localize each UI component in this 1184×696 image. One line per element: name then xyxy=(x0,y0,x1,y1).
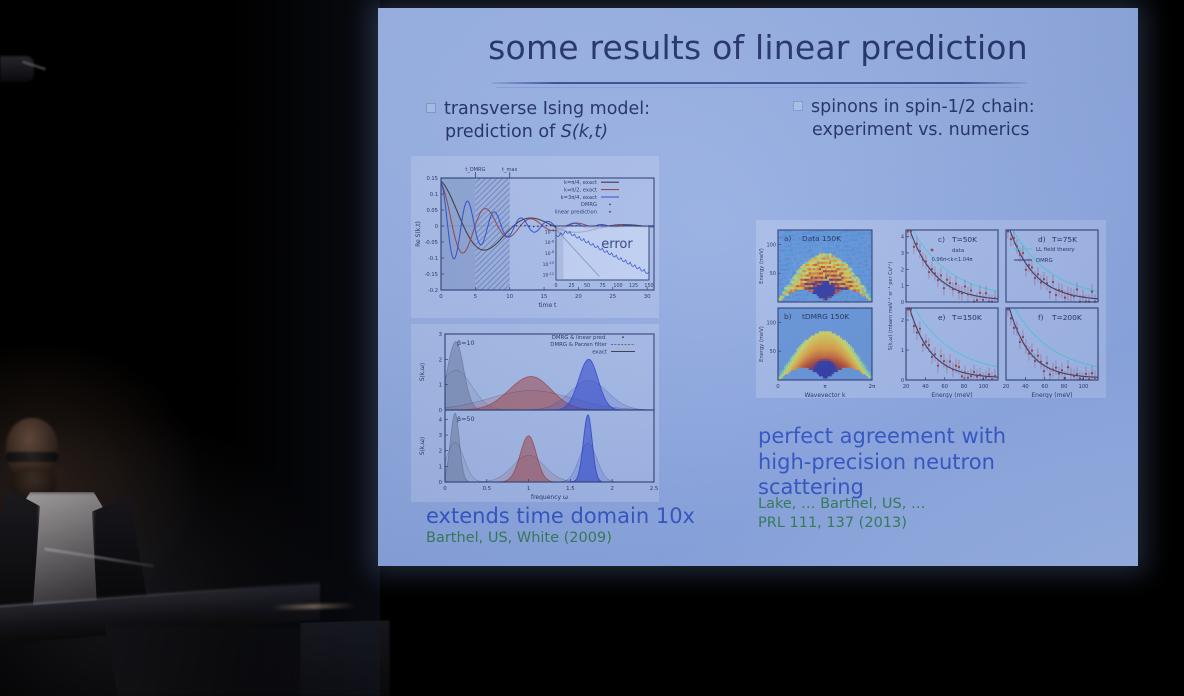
x-tick-label: π xyxy=(823,384,827,390)
cut-panel-0: c)T=50K01234 xyxy=(901,230,998,306)
annotation-tmax: t_max xyxy=(502,167,517,173)
data-point xyxy=(967,377,969,379)
data-point xyxy=(925,340,927,342)
data-point xyxy=(988,373,990,375)
data-point xyxy=(1046,282,1048,284)
data-point xyxy=(970,375,972,377)
figure-spectral-functions: 0123S(k,ω)β=1001234S(k,ω)β=5000.511.522.… xyxy=(411,324,659,502)
data-point xyxy=(1091,291,1093,293)
data-point xyxy=(964,285,966,287)
inset-x-tick-label: 50 xyxy=(584,283,590,289)
y-tick-label: 100 xyxy=(766,320,776,326)
y-tick-label: 2 xyxy=(439,357,442,363)
x-axis-label: Wavevector k xyxy=(805,392,846,398)
data-point xyxy=(925,260,927,262)
legend-dot-data xyxy=(931,249,934,252)
data-point xyxy=(943,287,945,289)
data-point xyxy=(1067,293,1069,295)
title-divider-shadow xyxy=(496,87,1021,88)
inset-y-tick-label: 10-4 xyxy=(545,229,554,236)
bullet-square-icon xyxy=(426,103,436,113)
figure-time-evolution: t_DMRGt_max0510152025300.150.10.050-0.05… xyxy=(411,156,659,318)
inset-x-tick-label: 100 xyxy=(613,283,622,289)
data-point xyxy=(1052,369,1054,371)
y-tick-label: 1 xyxy=(901,348,904,354)
caption-right-reference: Lake, … Barthel, US, … PRL 111, 137 (201… xyxy=(758,495,925,532)
data-point xyxy=(1010,317,1012,319)
data-point xyxy=(931,356,933,358)
x-tick-label: 25 xyxy=(609,294,616,300)
data-point xyxy=(1049,373,1051,375)
shaded-region-tdmrg xyxy=(441,178,475,290)
panel-label-1: T=75K xyxy=(1051,235,1077,244)
caption-right-highlight: perfect agreement with high-precision ne… xyxy=(758,424,1098,501)
caption-left-highlight: extends time domain 10x xyxy=(426,504,695,530)
data-point xyxy=(913,246,915,248)
slide-title: some results of linear prediction xyxy=(378,28,1138,67)
data-point xyxy=(1073,375,1075,377)
data-point xyxy=(985,376,987,378)
data-point xyxy=(916,243,918,245)
inset-y-tick-label: 10-12 xyxy=(543,272,554,279)
data-point xyxy=(931,268,933,270)
x-tick-label: 80 xyxy=(961,384,968,390)
data-point xyxy=(1031,266,1033,268)
y-axis-label: Re S(k,t) xyxy=(415,221,422,247)
data-point xyxy=(961,375,963,377)
data-marker xyxy=(524,225,526,227)
y-tick-label: 100 xyxy=(766,242,776,248)
chart-neutron-scattering: a)Data 150K50100Energy (meV)b)tDMRG 150K… xyxy=(756,220,1106,398)
data-point xyxy=(910,230,912,232)
cut-panel-1: d)T=75K xyxy=(1006,230,1098,303)
legend-dot-3 xyxy=(609,204,611,206)
y-axis-label: Energy (meV) xyxy=(759,248,765,284)
caption-right-highlight-line2: high-precision neutron scattering xyxy=(758,450,1098,501)
data-point xyxy=(1073,295,1075,297)
y-tick-label: 0.15 xyxy=(426,176,438,182)
figure-neutron-scattering: a)Data 150K50100Energy (meV)b)tDMRG 150K… xyxy=(756,220,1106,398)
data-point xyxy=(1028,352,1030,354)
legend-label-2: k=3π/4, exact xyxy=(561,195,597,201)
y-tick-label: 0 xyxy=(439,408,443,414)
bullet-square-icon xyxy=(793,101,803,111)
legend-label-0: k=π/4, exact xyxy=(564,180,597,186)
inset-y-tick-label: 10-6 xyxy=(545,239,554,246)
data-marker xyxy=(550,225,552,227)
panel-tag-0: a) xyxy=(784,234,792,243)
data-point xyxy=(1058,289,1060,291)
data-marker xyxy=(529,225,531,227)
y-tick-label: 0.05 xyxy=(426,208,438,214)
data-point xyxy=(1019,253,1021,255)
panel-tag-1: b) xyxy=(784,312,792,321)
y-tick-label: -0.2 xyxy=(428,288,438,294)
legend-dot-0 xyxy=(622,336,624,338)
legend-label-2: exact xyxy=(592,349,607,355)
data-point xyxy=(985,292,987,294)
data-point xyxy=(1061,290,1063,292)
data-point xyxy=(1010,238,1012,240)
y-tick-label: 2 xyxy=(439,449,442,455)
x-tick-label: 40 xyxy=(922,384,929,390)
data-point xyxy=(910,308,912,310)
data-point xyxy=(1016,245,1018,247)
data-point xyxy=(1037,355,1039,357)
bullet-right-line1: spinons in spin-1/2 chain: xyxy=(811,97,1035,117)
data-point xyxy=(1007,230,1009,232)
chart-spectral-functions: 0123S(k,ω)β=1001234S(k,ω)β=5000.511.522.… xyxy=(411,324,659,502)
data-point xyxy=(1085,373,1087,375)
data-point xyxy=(1079,377,1081,379)
data-point xyxy=(1043,370,1045,372)
panel-label-2: T=150K xyxy=(951,313,982,322)
chart-time-evolution: t_DMRGt_max0510152025300.150.10.050-0.05… xyxy=(411,156,659,318)
x-tick-label: 0 xyxy=(776,384,780,390)
y-axis-label: Energy (meV) xyxy=(759,326,765,362)
data-point xyxy=(958,366,960,368)
legend-label-0: DMRG & linear pred. xyxy=(552,335,608,341)
data-point xyxy=(1049,291,1051,293)
data-point xyxy=(958,291,960,293)
y-tick-label: 1 xyxy=(439,464,442,470)
annotation-tdmrg: t_DMRG xyxy=(465,167,485,173)
x-axis-label: frequency ω xyxy=(531,494,568,501)
heatmap-panel-1: b)tDMRG 150K50100Energy (meV) xyxy=(759,308,873,381)
data-point xyxy=(979,292,981,294)
x-tick-label: 60 xyxy=(941,384,948,390)
screenshot-root: some results of linear prediction transv… xyxy=(0,0,1184,696)
data-point xyxy=(940,355,942,357)
inset-y-tick-label: 10-8 xyxy=(545,250,554,257)
data-point xyxy=(913,325,915,327)
x-tick-label: 5 xyxy=(474,294,477,300)
data-point xyxy=(1040,361,1042,363)
x-tick-label: 0 xyxy=(439,294,443,300)
x-tick-label: 2π xyxy=(869,384,876,390)
y-tick-label: -0.1 xyxy=(428,256,438,262)
y-tick-label: 1 xyxy=(439,383,442,389)
y-tick-label: 50 xyxy=(770,349,776,355)
bullet-right: spinons in spin-1/2 chain: experiment vs… xyxy=(793,96,1093,143)
data-point xyxy=(982,299,984,301)
x-tick-label: 2 xyxy=(610,486,613,492)
y-tick-label: 3 xyxy=(439,332,442,338)
legend-label-3: DMRG xyxy=(581,202,597,208)
x-axis-label: Energy (meV) xyxy=(931,392,972,398)
data-point xyxy=(955,365,957,367)
data-point xyxy=(922,258,924,260)
data-point xyxy=(1055,294,1057,296)
x-tick-label: 30 xyxy=(644,294,651,300)
y-tick-label: 4 xyxy=(901,235,904,241)
data-point xyxy=(1034,360,1036,362)
data-point xyxy=(1028,264,1030,266)
legend-label-1: k=π/2, exact xyxy=(564,187,597,193)
data-point xyxy=(1025,269,1027,271)
y-tick-label: 0 xyxy=(901,300,904,306)
spectral-panel-1: 01234S(k,ω)β=5000.511.522.5frequency ω xyxy=(420,410,658,501)
data-point xyxy=(976,375,978,377)
data-point xyxy=(1031,349,1033,351)
data-point xyxy=(949,360,951,362)
legend-label-dmrg: DMRG xyxy=(1036,258,1053,264)
panel-tag-1: d) xyxy=(1038,235,1046,244)
data-point xyxy=(946,365,948,367)
caption-right-reference-line2: PRL 111, 137 (2013) xyxy=(758,514,925,533)
data-point xyxy=(928,344,930,346)
data-point xyxy=(940,274,942,276)
panel-tag-0: c) xyxy=(938,235,945,244)
data-point xyxy=(1025,345,1027,347)
legend-dot-4 xyxy=(609,211,611,213)
y-axis-label: S(k,ω) xyxy=(420,437,426,455)
data-marker xyxy=(537,225,539,227)
inset-y-tick-label: 10-10 xyxy=(543,261,554,268)
y-tick-label: 0 xyxy=(435,224,438,230)
caption-right-reference-line1: Lake, … Barthel, US, … xyxy=(758,495,925,514)
x-tick-label: 80 xyxy=(1061,384,1068,390)
data-point xyxy=(1064,296,1066,298)
data-point xyxy=(937,364,939,366)
data-marker xyxy=(541,225,543,227)
y-tick-label: 2 xyxy=(901,318,904,324)
data-marker xyxy=(546,225,548,227)
data-point xyxy=(1058,372,1060,374)
caption-right-highlight-line1: perfect agreement with xyxy=(758,424,1098,450)
data-point xyxy=(952,288,954,290)
data-point xyxy=(1076,288,1078,290)
y-tick-label: 3 xyxy=(901,251,904,257)
data-point xyxy=(1037,273,1039,275)
data-point xyxy=(919,328,921,330)
data-point xyxy=(964,371,966,373)
data-point xyxy=(928,271,930,273)
x-tick-label: 1 xyxy=(527,486,530,492)
data-point xyxy=(922,344,924,346)
data-point xyxy=(934,353,936,355)
x-tick-label: 0 xyxy=(443,486,447,492)
panel-tag-3: f) xyxy=(1038,313,1044,322)
x-tick-label: 20 xyxy=(575,294,582,300)
panel-label-1: tDMRG 150K xyxy=(802,312,849,321)
bullet-left-line2: prediction of S(k,t) xyxy=(445,121,716,144)
data-point xyxy=(1034,277,1036,279)
data-point xyxy=(1070,294,1072,296)
data-point xyxy=(1070,374,1072,376)
y-tick-label: 1 xyxy=(901,284,904,290)
caption-left-reference: Barthel, US, White (2009) xyxy=(426,529,612,548)
x-tick-label: 20 xyxy=(903,384,910,390)
x-tick-label: 15 xyxy=(541,294,548,300)
data-point xyxy=(937,279,939,281)
data-point xyxy=(970,289,972,291)
data-point xyxy=(1055,367,1057,369)
inset-x-tick-label: 75 xyxy=(599,283,605,289)
x-tick-label: 10 xyxy=(506,294,513,300)
panel-title: β=10 xyxy=(457,339,475,347)
projected-slide: some results of linear prediction transv… xyxy=(378,8,1138,566)
cut-panel-3: f)T=200K20406080100Energy (meV) xyxy=(1003,308,1098,398)
data-point xyxy=(1061,369,1063,371)
bullet-right-line2: experiment vs. numerics xyxy=(812,119,1093,142)
x-axis-label: time t xyxy=(539,302,557,309)
data-point xyxy=(967,293,969,295)
cuts-y-axis-label: S(k,ω) (mbarn meV⁻¹ sr⁻¹ per Cu²⁺) xyxy=(888,262,894,351)
data-point xyxy=(973,371,975,373)
panel-label-3: T=200K xyxy=(1051,313,1082,322)
x-tick-label: 40 xyxy=(1022,384,1029,390)
legend-label-krange: 0.96π<k<1.04π xyxy=(931,257,972,263)
inset-x-tick-label: 150 xyxy=(644,283,653,289)
y-axis-label: S(k,ω) xyxy=(420,363,426,381)
x-tick-label: 1.5 xyxy=(566,486,575,492)
data-point xyxy=(919,250,921,252)
legend-label-4: linear prediction xyxy=(555,210,597,216)
data-point xyxy=(1016,327,1018,329)
title-divider xyxy=(492,82,1027,84)
panel-title: β=50 xyxy=(457,415,475,423)
data-point xyxy=(1022,336,1024,338)
data-point xyxy=(1082,296,1084,298)
cut-panel-2: e)T=150K01220406080100Energy (meV) xyxy=(901,308,998,398)
data-point xyxy=(907,308,909,310)
inset-label-error: error xyxy=(601,237,633,252)
data-point xyxy=(916,331,918,333)
data-marker xyxy=(533,226,535,228)
x-tick-label: 100 xyxy=(979,384,989,390)
data-point xyxy=(979,374,981,376)
y-tick-label: 50 xyxy=(770,271,776,277)
x-tick-label: 20 xyxy=(1003,384,1010,390)
bullet-left-line2-formula: S(k,t) xyxy=(561,122,608,142)
data-point xyxy=(949,282,951,284)
x-tick-label: 0.5 xyxy=(483,486,492,492)
data-marker xyxy=(516,225,518,227)
data-point xyxy=(994,297,996,299)
bullet-left: transverse Ising model: prediction of S(… xyxy=(426,98,716,145)
data-point xyxy=(961,292,963,294)
inset-x-tick-label: 25 xyxy=(568,283,574,289)
data-point xyxy=(952,368,954,370)
y-tick-label: 0 xyxy=(439,480,443,486)
data-point xyxy=(1091,372,1093,374)
data-point xyxy=(1013,237,1015,239)
inset-x-tick-label: 125 xyxy=(629,283,638,289)
y-tick-label: 2 xyxy=(901,267,904,273)
bullet-left-line1: transverse Ising model: xyxy=(444,99,650,119)
legend-label-data: data xyxy=(952,248,964,254)
data-point xyxy=(943,360,945,362)
x-tick-label: 2.5 xyxy=(650,486,659,492)
y-tick-label: -0.05 xyxy=(425,240,438,246)
heatmap-panel-0: a)Data 150K50100Energy (meV) xyxy=(759,230,873,303)
y-tick-label: 0.1 xyxy=(430,192,438,198)
data-point xyxy=(1094,377,1096,379)
y-tick-label: 3 xyxy=(439,433,442,439)
data-point xyxy=(1043,278,1045,280)
data-point xyxy=(946,279,948,281)
data-point xyxy=(1022,252,1024,254)
x-axis-label: Energy (meV) xyxy=(1031,392,1072,398)
data-point xyxy=(1067,366,1069,368)
data-point xyxy=(994,375,996,377)
peak-broad-1 xyxy=(445,455,654,482)
data-point xyxy=(1052,281,1054,283)
data-point xyxy=(934,272,936,274)
inset-box xyxy=(556,226,649,280)
x-tick-label: 100 xyxy=(1079,384,1089,390)
bullet-left-line2-text: prediction of xyxy=(445,122,561,142)
y-tick-label: 4 xyxy=(439,417,443,423)
data-point xyxy=(1007,308,1009,310)
data-point xyxy=(976,299,978,301)
data-point xyxy=(1046,362,1048,364)
data-point xyxy=(1040,281,1042,283)
panel-tag-2: e) xyxy=(938,313,946,322)
panel-label-0: Data 150K xyxy=(802,234,841,243)
data-point xyxy=(1013,327,1015,329)
legend-label-1: DMRG & Parzen filter xyxy=(550,342,607,348)
data-point xyxy=(1019,341,1021,343)
wall-shading xyxy=(0,0,380,696)
panel-label-0: T=50K xyxy=(951,235,977,244)
data-marker xyxy=(520,225,522,227)
inset-x-tick-label: 0 xyxy=(554,283,557,289)
legend-label-ll: LL field theory xyxy=(1036,247,1075,253)
y-tick-label: -0.15 xyxy=(425,272,438,278)
x-tick-label: 60 xyxy=(1041,384,1048,390)
data-point xyxy=(1076,373,1078,375)
data-point xyxy=(955,283,957,285)
data-point xyxy=(907,230,909,232)
